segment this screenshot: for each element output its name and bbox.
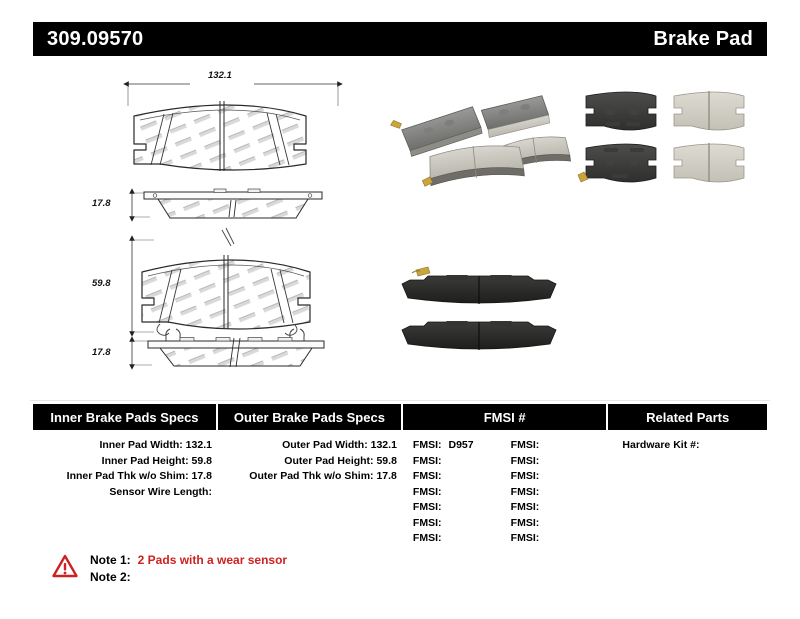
- dimension-thickness-bottom: 17.8: [92, 347, 111, 358]
- note-2-label: Note 2:: [90, 569, 131, 586]
- column-header-outer-specs: Outer Brake Pads Specs: [218, 404, 403, 430]
- fmsi-row: FMSI:D957: [413, 438, 511, 454]
- notes-section: Note 1: 2 Pads with a wear sensor Note 2…: [52, 552, 287, 586]
- column-header-fmsi: FMSI #: [403, 404, 609, 430]
- fmsi-label: FMSI:: [511, 486, 540, 498]
- fmsi-label: FMSI:: [511, 439, 540, 451]
- fmsi-subcolumn-left: FMSI:D957 FMSI: FMSI: FMSI: FMSI: FMSI: …: [413, 438, 511, 547]
- specs-table: Inner Brake Pads Specs Outer Brake Pads …: [33, 404, 767, 547]
- fmsi-row: FMSI:: [413, 531, 511, 547]
- dimension-height: 59.8: [92, 278, 111, 289]
- fmsi-label: FMSI:: [413, 501, 442, 513]
- fmsi-label: FMSI:: [511, 517, 540, 529]
- outer-spec-row: Outer Pad Height: 59.8: [218, 454, 397, 470]
- header-bar: 309.09570 Brake Pad: [33, 22, 767, 56]
- specs-table-body: Inner Pad Width: 132.1 Inner Pad Height:…: [33, 430, 767, 547]
- note-1-value: 2 Pads with a wear sensor: [138, 552, 287, 569]
- photo-pads-edge: [388, 256, 570, 368]
- fmsi-label: FMSI:: [511, 532, 540, 544]
- product-type: Brake Pad: [653, 28, 753, 51]
- fmsi-row: FMSI:: [413, 454, 511, 470]
- part-number: 309.09570: [47, 28, 143, 51]
- fmsi-label: FMSI:: [413, 517, 442, 529]
- fmsi-value: D957: [448, 439, 473, 451]
- fmsi-label: FMSI:: [413, 439, 442, 451]
- note-row-1: Note 1: 2 Pads with a wear sensor: [90, 552, 287, 569]
- fmsi-row: FMSI:: [511, 454, 609, 470]
- fmsi-row: FMSI:: [413, 469, 511, 485]
- specs-table-header-row: Inner Brake Pads Specs Outer Brake Pads …: [33, 404, 767, 430]
- column-header-related-parts: Related Parts: [608, 404, 767, 430]
- fmsi-subcolumn-right: FMSI: FMSI: FMSI: FMSI: FMSI: FMSI: FMSI…: [511, 438, 609, 547]
- outer-spec-row: Outer Pad Thk w/o Shim: 17.8: [218, 469, 397, 485]
- photo-pads-angled: [385, 80, 570, 190]
- inner-spec-row: Inner Pad Width: 132.1: [33, 438, 212, 454]
- fmsi-column: FMSI:D957 FMSI: FMSI: FMSI: FMSI: FMSI: …: [403, 438, 609, 547]
- related-part-row: Hardware Kit #:: [622, 438, 767, 454]
- inner-spec-row: Inner Pad Height: 59.8: [33, 454, 212, 470]
- fmsi-label: FMSI:: [413, 455, 442, 467]
- outer-spec-row: Outer Pad Width: 132.1: [218, 438, 397, 454]
- fmsi-row: FMSI:: [413, 516, 511, 532]
- drawing-top-pad-side: 17.8: [118, 185, 348, 233]
- outer-specs-column: Outer Pad Width: 132.1 Outer Pad Height:…: [218, 438, 403, 547]
- drawing-top-pad-plan: 132.1: [118, 72, 348, 182]
- inner-specs-column: Inner Pad Width: 132.1 Inner Pad Height:…: [33, 438, 218, 547]
- fmsi-label: FMSI:: [511, 470, 540, 482]
- note-1-label: Note 1:: [90, 552, 131, 569]
- fmsi-label: FMSI:: [511, 455, 540, 467]
- fmsi-row: FMSI:: [511, 438, 609, 454]
- inner-spec-row: Inner Pad Thk w/o Shim: 17.8: [33, 469, 212, 485]
- fmsi-row: FMSI:: [413, 485, 511, 501]
- column-header-inner-specs: Inner Brake Pads Specs: [33, 404, 218, 430]
- fmsi-label: FMSI:: [511, 501, 540, 513]
- dimension-width-top: 132.1: [208, 70, 232, 81]
- note-row-2: Note 2:: [90, 569, 287, 586]
- photo-pads-front-back: [578, 82, 756, 188]
- related-parts-column: Hardware Kit #:: [608, 438, 767, 547]
- fmsi-label: FMSI:: [413, 532, 442, 544]
- fmsi-row: FMSI:: [413, 500, 511, 516]
- drawing-bottom-pad-side: 17.8: [118, 325, 353, 383]
- fmsi-row: FMSI:: [511, 531, 609, 547]
- fmsi-row: FMSI:: [511, 469, 609, 485]
- note-lines: Note 1: 2 Pads with a wear sensor Note 2…: [90, 552, 287, 586]
- technical-drawings: 132.1 17.8: [0, 60, 800, 400]
- section-divider: [30, 400, 770, 401]
- warning-triangle-icon: [52, 554, 78, 578]
- fmsi-label: FMSI:: [413, 486, 442, 498]
- fmsi-row: FMSI:: [511, 500, 609, 516]
- fmsi-label: FMSI:: [413, 470, 442, 482]
- fmsi-row: FMSI:: [511, 485, 609, 501]
- fmsi-row: FMSI:: [511, 516, 609, 532]
- inner-spec-row: Sensor Wire Length:: [33, 485, 212, 501]
- dimension-thickness-top: 17.8: [92, 198, 111, 209]
